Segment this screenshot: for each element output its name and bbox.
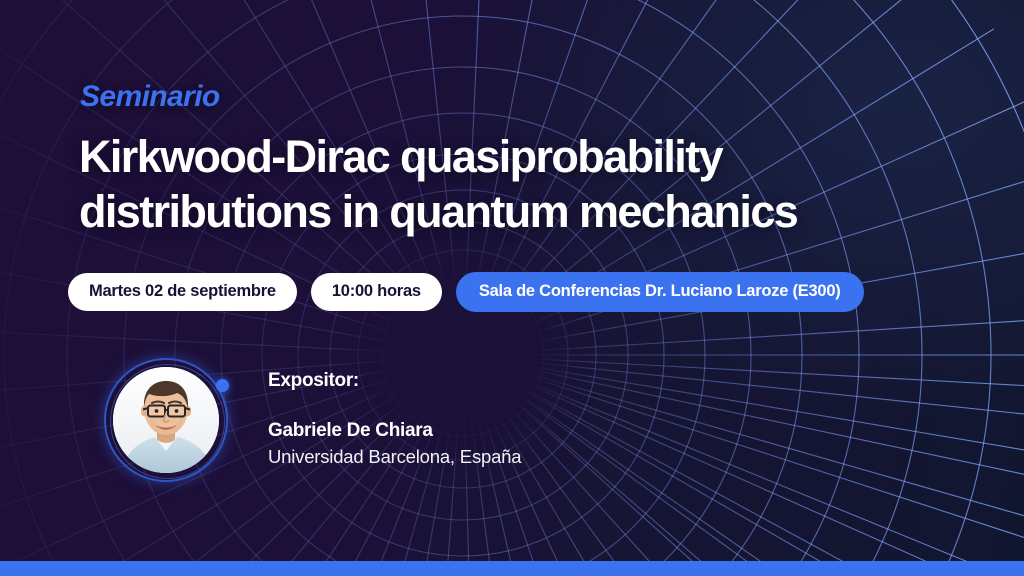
badge-time: 10:00 horas [311,273,442,311]
avatar-accent-dot-icon [216,379,229,392]
badge-date: Martes 02 de septiembre [68,273,297,311]
speaker-details: Expositor: Gabriele De Chiara Universida… [268,370,521,468]
title-line-2: distributions in quantum mechanics [79,185,979,240]
bottom-accent-bar [0,561,1024,576]
page-title: Kirkwood-Dirac quasiprobability distribu… [79,130,979,240]
poster-content: Seminario Kirkwood-Dirac quasiprobabilit… [0,0,1024,576]
avatar-ring-icon [104,358,228,482]
speaker-name: Gabriele De Chiara [268,420,521,442]
kicker-label: Seminario [80,80,220,114]
speaker-label: Expositor: [268,370,521,392]
badge-venue: Sala de Conferencias Dr. Luciano Laroze … [456,272,864,312]
seminar-poster: Seminario Kirkwood-Dirac quasiprobabilit… [0,0,1024,576]
title-line-1: Kirkwood-Dirac quasiprobability [79,130,979,185]
info-badges: Martes 02 de septiembre 10:00 horas Sala… [68,272,864,312]
speaker-affiliation: Universidad Barcelona, España [268,446,521,468]
avatar [104,358,228,482]
speaker-block: Expositor: Gabriele De Chiara Universida… [104,358,624,488]
